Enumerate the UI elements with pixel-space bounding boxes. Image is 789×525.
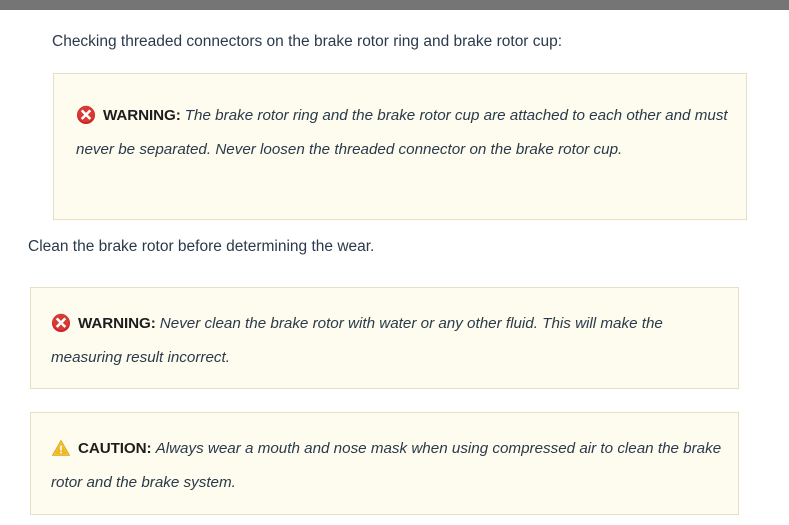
warning-box-2-label: WARNING: [78, 315, 160, 332]
intro-paragraph: Checking threaded connectors on the brak… [52, 31, 562, 53]
warning-box-2: WARNING: Never clean the brake rotor wit… [30, 287, 739, 389]
warning-box-1-body: WARNING: The brake rotor ring and the br… [76, 99, 728, 167]
warning-box-1-label: WARNING: [103, 107, 185, 124]
warning-triangle-icon [51, 438, 71, 458]
clean-paragraph: Clean the brake rotor before determining… [28, 236, 374, 258]
warning-box-1: WARNING: The brake rotor ring and the br… [53, 73, 747, 220]
document-page: Checking threaded connectors on the brak… [0, 10, 789, 525]
warning-box-2-body: WARNING: Never clean the brake rotor wit… [51, 307, 722, 375]
top-bar [0, 0, 789, 10]
caution-box-3: CAUTION: Always wear a mouth and nose ma… [30, 412, 739, 515]
caution-box-3-label: CAUTION: [78, 440, 156, 457]
error-circle-x-icon [76, 105, 96, 125]
caution-box-3-body: CAUTION: Always wear a mouth and nose ma… [51, 432, 722, 500]
error-circle-x-icon [51, 313, 71, 333]
